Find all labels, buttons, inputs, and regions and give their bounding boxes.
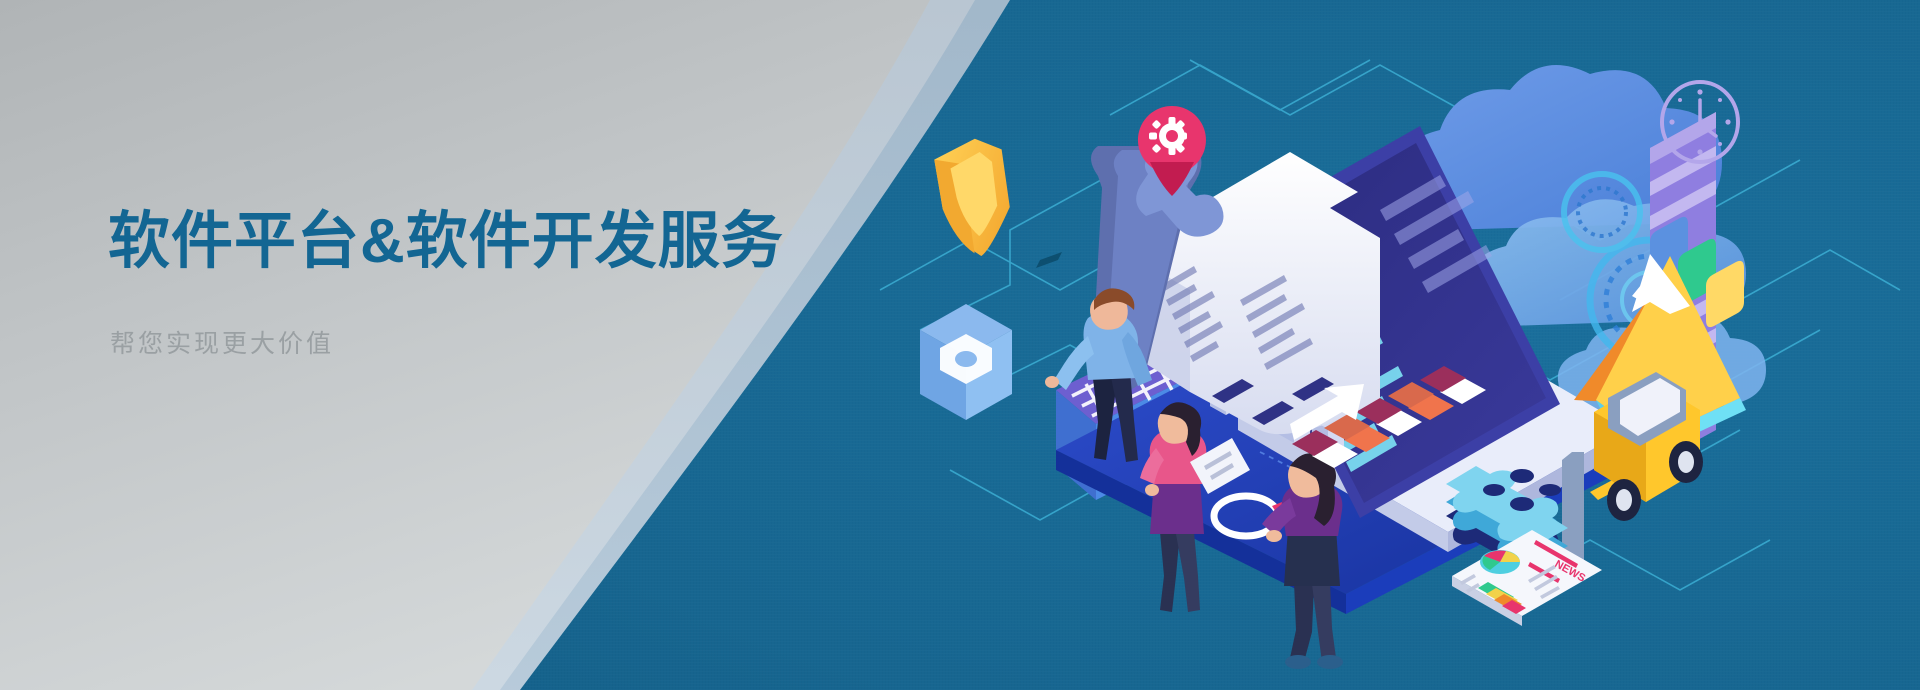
page-title: 软件平台&软件开发服务 — [108, 205, 868, 278]
hero-text-block: 软件平台&软件开发服务 帮您实现更大价值 — [108, 205, 868, 360]
page-subtitle: 帮您实现更大价值 — [110, 324, 868, 360]
hero-banner: NEWS — [0, 0, 1920, 690]
